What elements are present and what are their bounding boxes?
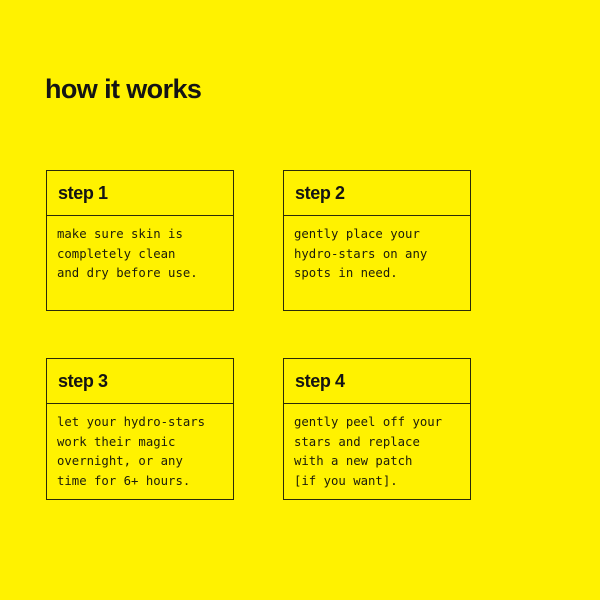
step-card-1-body: make sure skin is completely clean and d… — [47, 216, 233, 310]
step-card-4-header: step 4 — [284, 359, 470, 404]
step-card-2-line: gently place your — [294, 225, 464, 245]
step-card-3-header: step 3 — [47, 359, 233, 404]
step-card-3-title: step 3 — [58, 372, 108, 390]
page-title: how it works — [45, 75, 201, 105]
step-card-4: step 4 gently peel off your stars and re… — [283, 358, 471, 500]
step-card-2-body: gently place your hydro-stars on any spo… — [284, 216, 470, 310]
step-card-4-line: gently peel off your — [294, 413, 464, 433]
step-card-1-header: step 1 — [47, 171, 233, 216]
step-card-1-line: completely clean — [57, 245, 227, 265]
step-card-1-title: step 1 — [58, 184, 108, 202]
step-card-2-line: hydro-stars on any — [294, 245, 464, 265]
step-card-1-line: and dry before use. — [57, 264, 227, 284]
how-it-works-page: how it works step 1 make sure skin is co… — [0, 0, 600, 600]
step-card-3-line: work their magic — [57, 433, 227, 453]
step-card-3: step 3 let your hydro-stars work their m… — [46, 358, 234, 500]
step-card-2-header: step 2 — [284, 171, 470, 216]
step-card-3-line: overnight, or any — [57, 452, 227, 472]
step-card-4-title: step 4 — [295, 372, 345, 390]
step-card-3-body: let your hydro-stars work their magic ov… — [47, 404, 233, 499]
steps-grid: step 1 make sure skin is completely clea… — [46, 170, 471, 500]
step-card-3-line: let your hydro-stars — [57, 413, 227, 433]
step-card-4-line: with a new patch — [294, 452, 464, 472]
step-card-4-line: [if you want]. — [294, 472, 464, 492]
step-card-2: step 2 gently place your hydro-stars on … — [283, 170, 471, 311]
step-card-2-title: step 2 — [295, 184, 345, 202]
step-card-1: step 1 make sure skin is completely clea… — [46, 170, 234, 311]
step-card-2-line: spots in need. — [294, 264, 464, 284]
step-card-1-line: make sure skin is — [57, 225, 227, 245]
step-card-3-line: time for 6+ hours. — [57, 472, 227, 492]
step-card-4-line: stars and replace — [294, 433, 464, 453]
step-card-4-body: gently peel off your stars and replace w… — [284, 404, 470, 499]
